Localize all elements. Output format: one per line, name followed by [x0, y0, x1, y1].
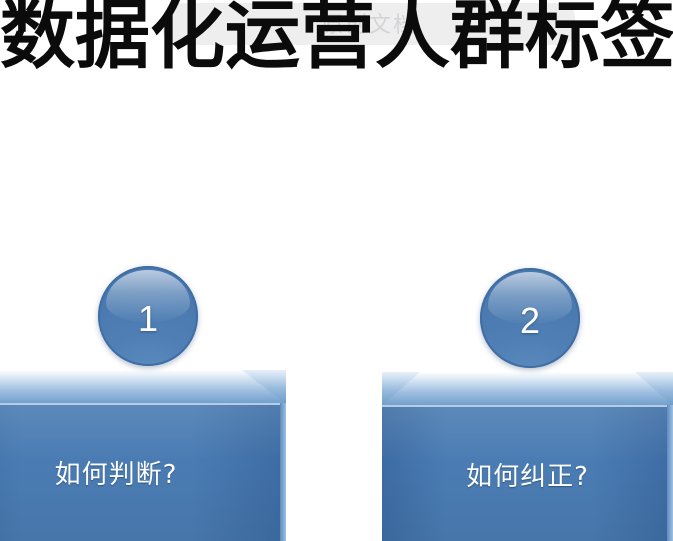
pedestal-group-1[interactable]: 如何判断? 1 — [0, 266, 286, 541]
pedestal-number-1: 1 — [98, 266, 198, 366]
pedestal-top-face-2 — [382, 372, 673, 406]
pedestal-label-2: 如何纠正? — [382, 456, 673, 493]
pedestal-number-badge-1[interactable]: 1 — [98, 266, 198, 366]
pedestal-top-face-inner-2 — [382, 372, 673, 406]
pedestal-number-badge-2[interactable]: 2 — [480, 268, 580, 368]
page-title: 数据化运营人群标签 — [0, 0, 673, 78]
pedestal-top-face-1 — [0, 370, 286, 404]
pedestal-group-2[interactable]: 如何纠正? 2 — [382, 268, 673, 541]
pedestal-number-2: 2 — [480, 268, 580, 368]
slide-canvas: 原创文档 数据化运营人群标签 如何判断? 1 如何纠正? 2 — [0, 0, 673, 541]
pedestal-top-face-inner-1 — [0, 370, 286, 404]
pedestal-label-1: 如何判断? — [0, 454, 286, 491]
